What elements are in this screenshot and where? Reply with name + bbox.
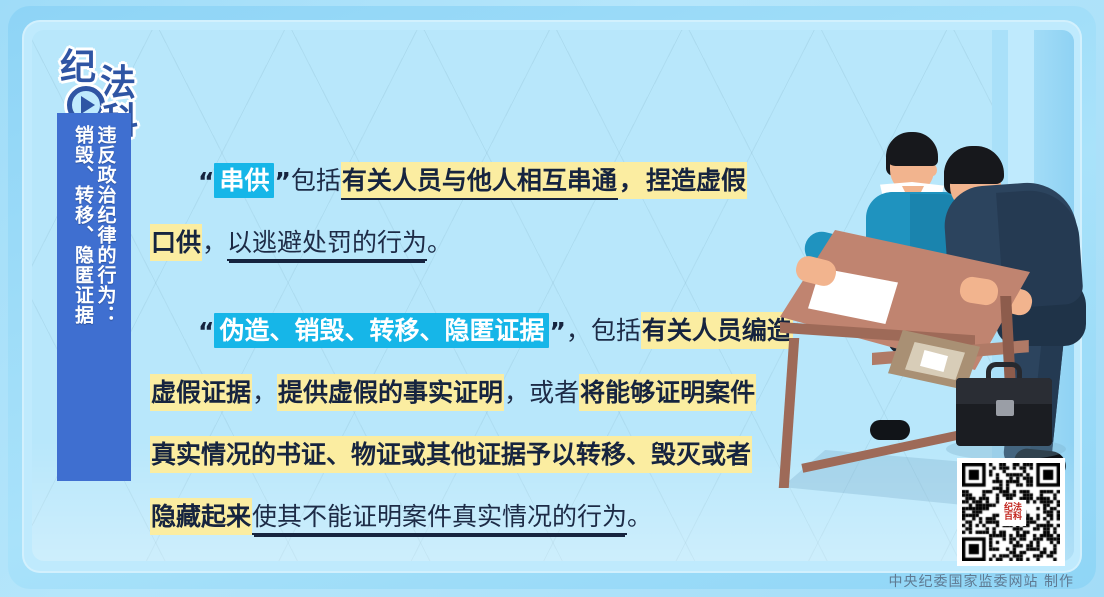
logo-char-ji: 纪	[60, 38, 96, 90]
highlight-term-yellow: 捏造虚假	[645, 162, 747, 199]
highlight-term-yellow: 口供	[150, 224, 202, 261]
highlight-term-yellow: 有关人员与他人相互串通	[341, 162, 618, 200]
close-quote: ”	[549, 317, 565, 346]
desk-leg-left	[779, 338, 799, 488]
person-navy-hair	[944, 146, 1004, 184]
text-run: 包括	[291, 166, 341, 195]
text-line: 隐藏起来使其不能证明案件真实情况的行为。	[150, 486, 810, 548]
text-run-underlined: 使其不能证明案件真实情况的行为	[252, 502, 627, 535]
highlight-term-cyan: 伪造、销毁、转移、隐匿证据	[214, 313, 549, 348]
highlight-term-yellow: 将能够证明案件	[579, 374, 756, 411]
highlight-term-yellow: 隐藏起来	[150, 498, 252, 535]
poster-canvas: 纪 法 科 违反政治纪律的行为： 销毁、转移、隐匿证据 “串供”包括有关人员与他…	[0, 0, 1104, 597]
close-quote: ”	[274, 167, 290, 196]
play-icon-triangle	[81, 96, 95, 114]
text-line: 虚假证据，提供虚假的事实证明，或者将能够证明案件	[150, 362, 810, 424]
text-run: 。	[627, 502, 652, 531]
two-officials-at-desk-illustration	[760, 120, 1090, 500]
vertical-title-banner: 违反政治纪律的行为： 销毁、转移、隐匿证据	[57, 113, 131, 481]
text-run: 。	[427, 228, 452, 257]
highlight-term-yellow: 虚假证据	[150, 374, 252, 411]
highlight-term-yellow: 提供虚假的事实证明	[277, 374, 504, 411]
paragraph-2: “伪造、销毁、转移、隐匿证据”，包括有关人员编造 虚假证据，提供虚假的事实证明，…	[150, 300, 810, 548]
person-teal-hair	[886, 132, 938, 166]
open-quote: “	[198, 317, 214, 346]
person-teal-shoe	[870, 420, 910, 440]
text-run: ，	[504, 378, 529, 407]
qr-center-logo: 纪法百科	[1000, 500, 1026, 526]
banner-column-left: 销毁、转移、隐匿证据	[72, 125, 93, 481]
text-run-underlined: 以逃避处罚的行为	[227, 228, 427, 261]
text-run: ，	[618, 162, 645, 199]
banner-column-right: 违反政治纪律的行为：	[95, 125, 116, 481]
text-run: ，	[252, 378, 277, 407]
open-quote: “	[198, 167, 214, 196]
text-line: “伪造、销毁、转移、隐匿证据”，包括有关人员编造	[150, 300, 810, 362]
body-copy: “串供”包括有关人员与他人相互串通，捏造虚假 口供，以逃避处罚的行为。 “伪造、…	[150, 150, 810, 574]
paragraph-1: “串供”包括有关人员与他人相互串通，捏造虚假 口供，以逃避处罚的行为。	[150, 150, 810, 274]
text-run: ，	[202, 228, 227, 257]
highlight-term-yellow: 真实情况的书证、物证或其他证据予以转移、毁灭或者	[150, 436, 752, 473]
text-run: 或者	[529, 378, 579, 407]
credit-line: 中央纪委国家监委网站 制作	[889, 571, 1074, 591]
text-line: 真实情况的书证、物证或其他证据予以转移、毁灭或者	[150, 424, 810, 486]
briefcase-clasp	[996, 400, 1014, 416]
highlight-term-cyan: 串供	[214, 163, 274, 198]
text-line: 口供，以逃避处罚的行为。	[150, 212, 810, 274]
qr-center-logo-text: 纪法百科	[1000, 504, 1026, 522]
text-line: “串供”包括有关人员与他人相互串通，捏造虚假	[150, 150, 810, 212]
text-run: ，包括	[566, 316, 641, 345]
